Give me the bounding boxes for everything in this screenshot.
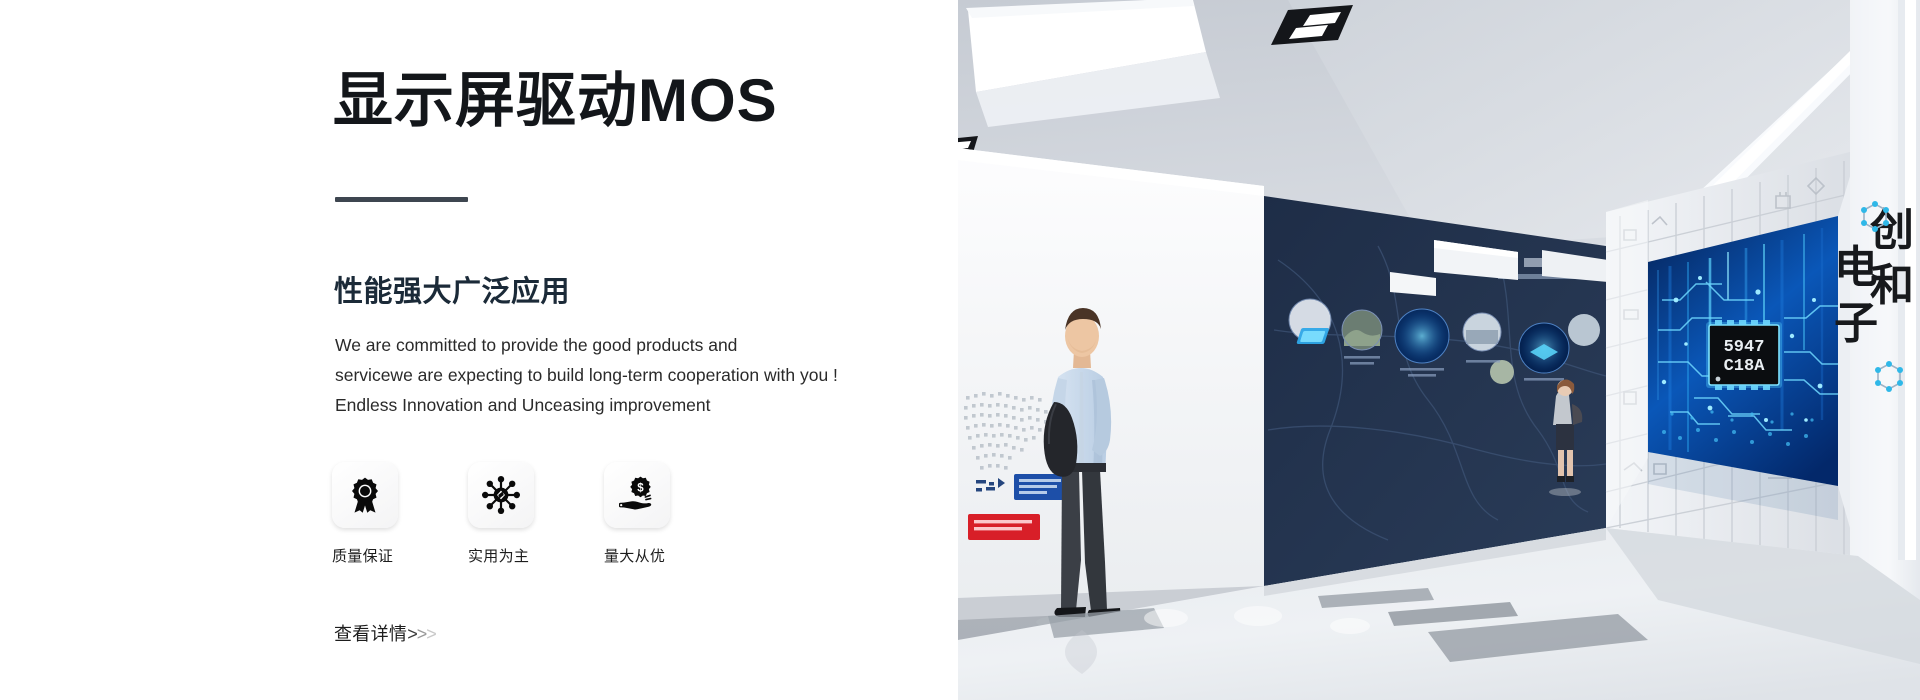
wall-circle-plaque — [1463, 313, 1501, 351]
led-display-screen: 5947 C18A — [1648, 216, 1838, 486]
network-hub-badge — [468, 462, 534, 528]
hand-money-badge: $ — [604, 462, 670, 528]
feature-item-practical[interactable]: 实用为主 — [468, 462, 546, 566]
feature-item-quality[interactable]: 质量保证 — [332, 462, 410, 566]
subtitle: 性能强大广泛应用 — [334, 268, 570, 310]
feature-item-bulk-discount[interactable]: $ 量大从优 — [604, 462, 682, 566]
promo-banner: 显示屏驱动MOS 性能强大广泛应用 We are committed to pr… — [0, 0, 1920, 700]
view-details-link[interactable]: 查看详情>>> — [334, 620, 436, 646]
chevron-3-icon: > — [426, 624, 436, 645]
wall-circle-plaque — [1568, 314, 1600, 346]
wall-circle-plaque — [1342, 310, 1382, 350]
svg-text:电: 电 — [1834, 243, 1878, 292]
hand-money-icon: $ — [617, 475, 657, 515]
chip-label-line2: C18A — [1724, 357, 1766, 376]
description-line-1: We are committed to provide the good pro… — [335, 330, 895, 360]
svg-text:子: 子 — [1834, 299, 1878, 348]
chevron-2-icon: > — [417, 624, 427, 645]
chip-graphic: 5947 C18A — [1706, 320, 1782, 390]
hall-illustration: 5947 C18A 创 和 电 子 — [958, 0, 1920, 700]
description-line-3: Endless Innovation and Unceasing improve… — [335, 390, 895, 420]
description-paragraph: We are committed to provide the good pro… — [335, 330, 895, 420]
wall-circle-plaque — [1490, 360, 1514, 384]
wall-sign-blue — [1014, 474, 1066, 500]
wall-circle-plaque-chip — [1519, 323, 1569, 373]
view-details-text: 查看详情 — [334, 620, 407, 646]
feature-label-bulk-discount: 量大从优 — [604, 545, 682, 566]
feature-label-practical: 实用为主 — [468, 545, 546, 566]
chevron-1-icon: > — [407, 624, 417, 645]
award-medal-icon — [345, 475, 385, 515]
description-line-2: servicewe are expecting to build long-te… — [335, 360, 895, 390]
feature-list: 质量保证 — [332, 462, 682, 566]
chip-label-line1: 5947 — [1724, 338, 1765, 357]
text-panel: 显示屏驱动MOS 性能强大广泛应用 We are committed to pr… — [0, 0, 958, 700]
exhibition-hall-photo: 5947 C18A 创 和 电 子 — [958, 0, 1920, 700]
network-hub-icon — [481, 475, 521, 515]
award-medal-badge — [332, 462, 398, 528]
title-divider — [335, 197, 468, 202]
page-title: 显示屏驱动MOS — [333, 68, 778, 134]
wall-sign-red — [968, 514, 1040, 540]
feature-label-quality: 质量保证 — [332, 545, 410, 566]
svg-text:$: $ — [637, 483, 644, 495]
